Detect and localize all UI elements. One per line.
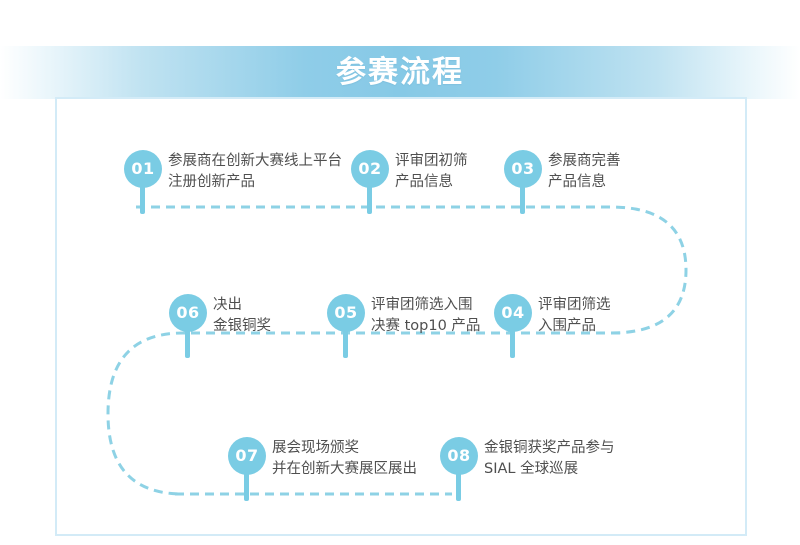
step-label-line: 产品信息 — [395, 172, 468, 193]
flowchart-page: 参赛流程 01参展商在创新大赛线上平台注册创新产品02评审团初筛产品信息03参展… — [0, 0, 800, 545]
step-stem — [367, 184, 372, 214]
step-label-line: 入围产品 — [538, 316, 611, 337]
step-label: 展会现场颁奖并在创新大赛展区展出 — [272, 438, 417, 480]
step-stem — [510, 328, 515, 358]
step-number-badge[interactable]: 07 — [228, 437, 266, 475]
step-number-badge[interactable]: 05 — [327, 294, 365, 332]
step-stem — [185, 328, 190, 358]
step-label-line: 参展商在创新大赛线上平台 — [168, 151, 342, 172]
step-label-line: 决赛 top10 产品 — [371, 316, 480, 337]
step-label-line: 参展商完善 — [548, 151, 621, 172]
step-label: 决出金银铜奖 — [213, 295, 271, 337]
step-number-badge[interactable]: 04 — [494, 294, 532, 332]
step-label-line: 展会现场颁奖 — [272, 438, 417, 459]
step-number-badge[interactable]: 08 — [440, 437, 478, 475]
step-number-badge[interactable]: 03 — [504, 150, 542, 188]
step-label: 参展商完善产品信息 — [548, 151, 621, 193]
step-stem — [456, 471, 461, 501]
step-stem — [520, 184, 525, 214]
step-label: 参展商在创新大赛线上平台注册创新产品 — [168, 151, 342, 193]
step-label-line: 产品信息 — [548, 172, 621, 193]
step-label: 评审团初筛产品信息 — [395, 151, 468, 193]
step-label-line: 注册创新产品 — [168, 172, 342, 193]
step-label-line: 评审团初筛 — [395, 151, 468, 172]
step-number-badge[interactable]: 02 — [351, 150, 389, 188]
step-label-line: SIAL 全球巡展 — [484, 459, 615, 480]
step-label: 评审团筛选入围产品 — [538, 295, 611, 337]
step-label: 评审团筛选入围决赛 top10 产品 — [371, 295, 480, 337]
step-label-line: 决出 — [213, 295, 271, 316]
step-label-line: 评审团筛选 — [538, 295, 611, 316]
step-stem — [140, 184, 145, 214]
step-label-line: 金银铜奖 — [213, 316, 271, 337]
step-label-line: 评审团筛选入围 — [371, 295, 480, 316]
step-label-line: 并在创新大赛展区展出 — [272, 459, 417, 480]
step-stem — [343, 328, 348, 358]
step-label: 金银铜获奖产品参与SIAL 全球巡展 — [484, 438, 615, 480]
page-title: 参赛流程 — [0, 46, 800, 99]
step-label-line: 金银铜获奖产品参与 — [484, 438, 615, 459]
step-number-badge[interactable]: 01 — [124, 150, 162, 188]
step-stem — [244, 471, 249, 501]
step-number-badge[interactable]: 06 — [169, 294, 207, 332]
